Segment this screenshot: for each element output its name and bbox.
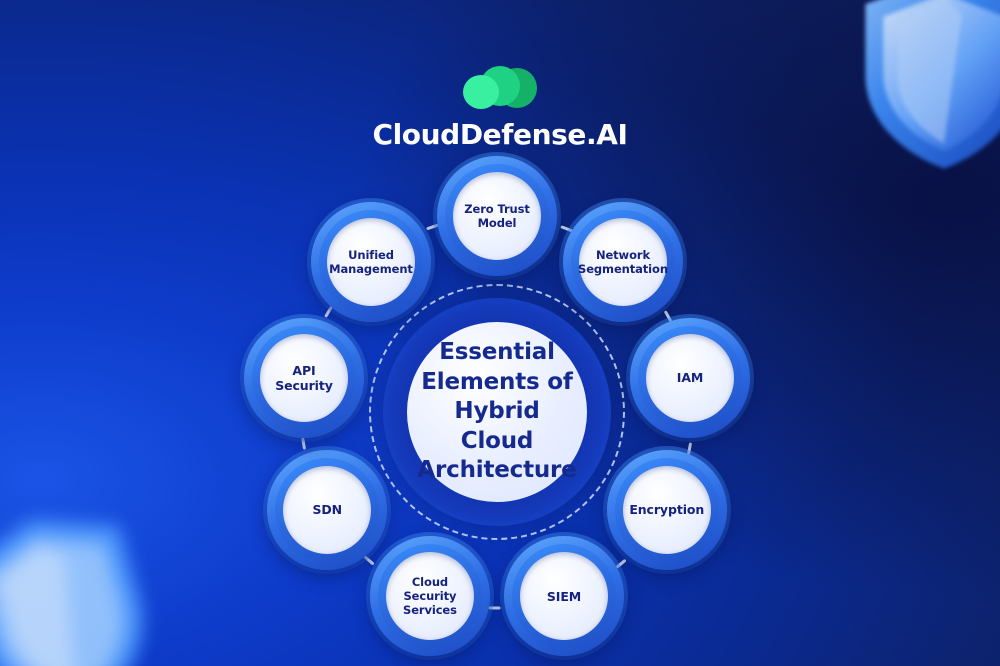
node-face: Encryption [623, 466, 711, 554]
node-label: API Security [260, 363, 348, 394]
node-label: NetworkSegmentation [571, 248, 675, 276]
hub-core: EssentialElements ofHybrid CloudArchitec… [407, 322, 587, 502]
diagram-node-zero-trust-model[interactable]: Zero TrustModel [437, 156, 557, 276]
center-title-line-1: Elements of [417, 368, 577, 397]
cloud-logo-icon [463, 66, 537, 112]
node-label-line-1: Model [464, 216, 530, 230]
node-label: SIEM [540, 589, 588, 604]
diagram-node-sdn[interactable]: SDN [267, 450, 387, 570]
node-label-line-0: Cloud Security [393, 575, 467, 603]
node-label-line-1: Segmentation [578, 262, 668, 276]
radial-diagram: EssentialElements ofHybrid CloudArchitec… [147, 162, 847, 662]
node-face: Cloud SecurityServices [386, 552, 474, 640]
node-label-line-0: Zero Trust [464, 202, 530, 216]
node-face: IAM [646, 334, 734, 422]
node-label: Zero TrustModel [457, 202, 537, 230]
infographic-canvas: CloudDefense.AI EssentialElements ofHybr… [0, 0, 1000, 666]
brand-name: CloudDefense.AI [0, 118, 1000, 151]
node-face: API Security [260, 334, 348, 422]
node-label-line-0: SIEM [547, 589, 581, 604]
diagram-node-cloud-security-services[interactable]: Cloud SecurityServices [370, 536, 490, 656]
node-face: SIEM [520, 552, 608, 640]
node-label-line-0: IAM [677, 370, 703, 385]
diagram-node-encryption[interactable]: Encryption [607, 450, 727, 570]
node-face: Zero TrustModel [453, 172, 541, 260]
logo-blob-front [463, 75, 499, 109]
node-face: NetworkSegmentation [579, 218, 667, 306]
node-label-line-0: SDN [312, 502, 342, 517]
node-face: UnifiedManagement [327, 218, 415, 306]
node-label: UnifiedManagement [322, 248, 420, 276]
diagram-center-title: EssentialElements ofHybrid CloudArchitec… [407, 338, 587, 485]
node-label: Cloud SecurityServices [386, 575, 474, 617]
center-title-line-0: Essential [417, 338, 577, 367]
node-label-line-0: API Security [267, 363, 341, 394]
center-title-line-3: Architecture [417, 456, 577, 485]
node-label: IAM [670, 370, 710, 385]
node-label-line-0: Network [578, 248, 668, 262]
brand-logo: CloudDefense.AI [0, 66, 1000, 151]
diagram-node-network-segmentation[interactable]: NetworkSegmentation [563, 202, 683, 322]
diagram-node-siem[interactable]: SIEM [504, 536, 624, 656]
node-label: SDN [305, 502, 349, 517]
node-label-line-1: Services [393, 603, 467, 617]
node-face: SDN [283, 466, 371, 554]
node-label-line-0: Encryption [629, 502, 704, 517]
node-label-line-0: Unified [329, 248, 413, 262]
node-label: Encryption [622, 502, 711, 517]
diagram-node-iam[interactable]: IAM [630, 318, 750, 438]
diagram-node-api-security[interactable]: API Security [244, 318, 364, 438]
center-title-line-2: Hybrid Cloud [417, 397, 577, 456]
diagram-center-hub: EssentialElements ofHybrid CloudArchitec… [369, 284, 625, 540]
node-label-line-1: Management [329, 262, 413, 276]
diagram-node-unified-management[interactable]: UnifiedManagement [311, 202, 431, 322]
